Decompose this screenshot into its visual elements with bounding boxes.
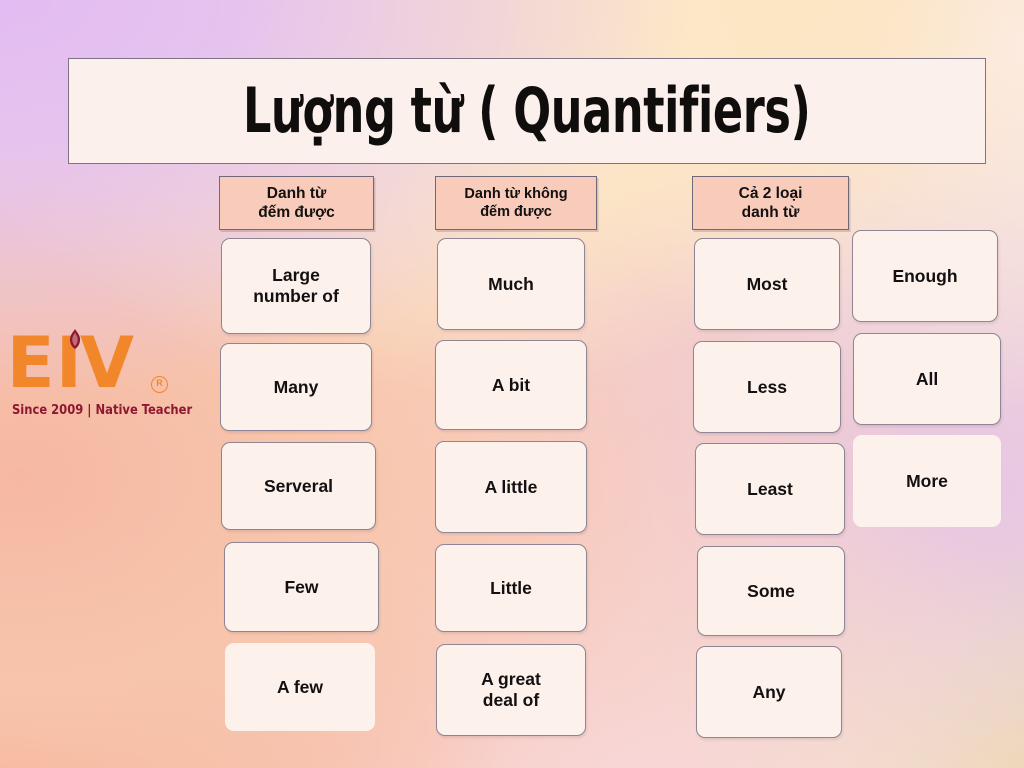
header-line-2: đếm được [464,203,567,221]
card-list-both-primary: Most Less Least Some Any [692,230,847,738]
column-countable: Danh từ đếm được Large number of Many Se… [219,176,374,731]
header-line-1: Cả 2 loại [739,184,803,203]
column-uncountable: Danh từ không đếm được Much A bit A litt… [435,176,590,736]
quantifier-card[interactable]: A bit [435,340,587,430]
card-line-2: number of [253,286,339,307]
column-header-uncountable: Danh từ không đếm được [435,176,597,230]
header-line-1: Danh từ không [464,185,567,203]
card-line-1: A little [485,477,538,498]
quantifier-card[interactable]: Less [693,341,841,433]
card-line-1: Most [747,274,788,295]
quantifier-card[interactable]: Least [695,443,845,535]
card-line-1: A few [277,677,323,698]
quantifier-columns: Danh từ đếm được Large number of Many Se… [0,0,1024,768]
card-line-1: Less [747,377,787,398]
header-line-2: đếm được [258,203,335,222]
card-line-1: A great [481,669,541,690]
column-header-both: Cả 2 loại danh từ [692,176,849,230]
quantifier-card[interactable]: Some [697,546,845,636]
card-list-uncountable: Much A bit A little Little A great deal … [435,230,590,736]
quantifier-card[interactable]: Much [437,238,585,330]
column-header-countable: Danh từ đếm được [219,176,374,230]
quantifier-card[interactable]: Few [224,542,379,632]
card-line-2: deal of [481,690,541,711]
slide-canvas: Lượng từ ( Quantifiers) ƎIV R Since 2009… [0,0,1024,768]
quantifier-card[interactable]: All [853,333,1001,425]
quantifier-card[interactable]: Many [220,343,372,431]
card-line-1: More [906,471,948,492]
card-line-1: Many [274,377,319,398]
card-line-1: Any [752,682,785,703]
card-line-1: Some [747,581,795,602]
quantifier-card[interactable]: More [853,435,1001,527]
quantifier-card[interactable]: A great deal of [436,644,586,736]
quantifier-card[interactable]: Enough [852,230,998,322]
column-both-primary: Cả 2 loại danh từ Most Less Least Some [692,176,847,738]
card-list-both-secondary: Enough All More [852,230,1000,527]
quantifier-card[interactable]: Most [694,238,840,330]
quantifier-card[interactable]: Serveral [221,442,376,530]
column-both-secondary: Enough All More [852,230,1000,527]
card-line-1: All [916,369,938,390]
card-line-1: A bit [492,375,530,396]
quantifier-card[interactable]: Any [696,646,842,738]
card-line-1: Much [488,274,534,295]
header-line-2: danh từ [739,203,803,222]
card-line-1: Few [284,577,318,598]
card-line-1: Large [253,265,339,286]
quantifier-card[interactable]: A few [225,643,375,731]
header-line-1: Danh từ [258,184,335,203]
card-list-countable: Large number of Many Serveral Few A few [219,230,374,731]
card-line-1: Least [747,479,793,500]
quantifier-card[interactable]: A little [435,441,587,533]
card-line-1: Little [490,578,532,599]
card-line-1: Enough [892,266,957,287]
quantifier-card[interactable]: Little [435,544,587,632]
card-line-1: Serveral [264,476,333,497]
quantifier-card[interactable]: Large number of [221,238,371,334]
